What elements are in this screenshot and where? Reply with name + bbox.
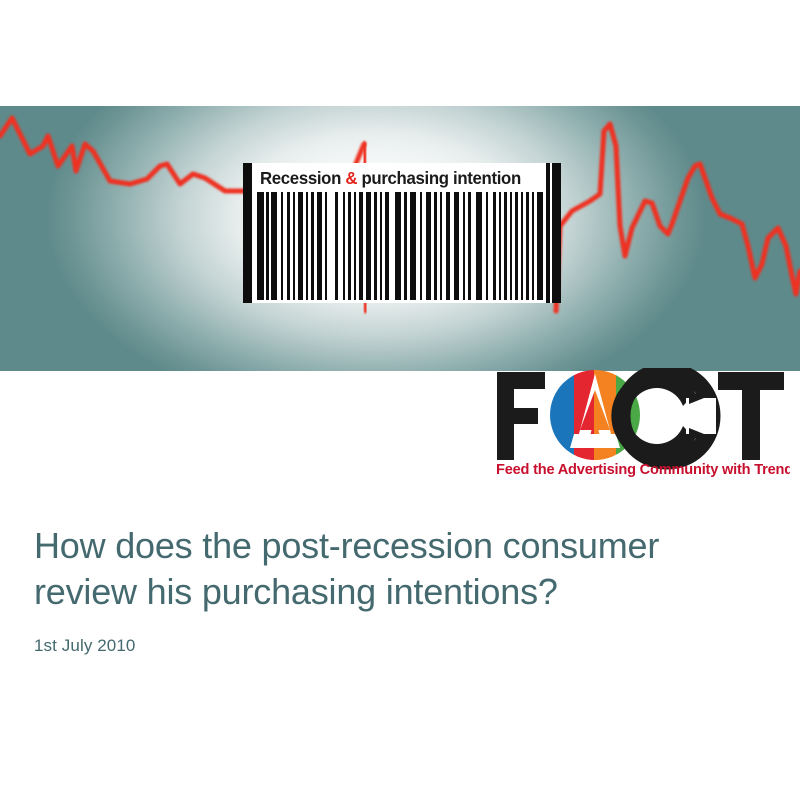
barcode-right-rail (552, 163, 561, 303)
barcode-left-rail (243, 163, 252, 303)
trend-line-right (556, 124, 800, 311)
barcode-right-rail-secondary (546, 163, 550, 303)
page-title-line-1: How does the post-recession consumer (34, 525, 659, 566)
barcode-graphic: Recession & purchasing intention (243, 163, 561, 303)
cover-text-block: How does the post-recession consumer rev… (34, 523, 754, 657)
cover-slide: Recession & purchasing intention (0, 0, 800, 800)
barcode-bars (257, 192, 545, 300)
logo-letter-c (611, 371, 716, 461)
barcode-title-prefix: Recession (260, 168, 345, 188)
fact-logo-svg: Feed the Advertising Community with Tren… (490, 368, 790, 478)
logo-letter-f (497, 372, 545, 460)
barcode-title-suffix: purchasing intention (357, 168, 521, 188)
fact-logo: Feed the Advertising Community with Tren… (490, 368, 790, 478)
barcode-title-ampersand: & (345, 168, 357, 188)
logo-letter-t (718, 372, 784, 460)
barcode-title: Recession & purchasing intention (260, 166, 534, 191)
cover-date: 1st July 2010 (34, 615, 754, 657)
logo-tagline: Feed the Advertising Community with Tren… (496, 462, 790, 478)
barcode-bars-svg (257, 192, 545, 300)
page-title-line-2: review his purchasing intentions? (34, 571, 558, 612)
page-title: How does the post-recession consumer rev… (34, 523, 754, 615)
